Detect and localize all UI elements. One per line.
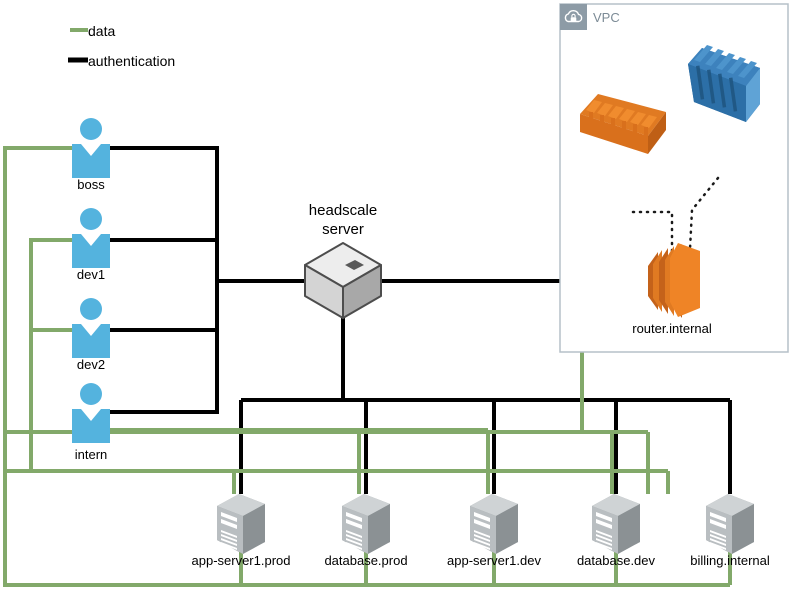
data-edge-dev2	[31, 330, 72, 471]
vpc-label: VPC	[593, 10, 620, 25]
server-icon	[706, 494, 754, 554]
headscale-server-node: headscale server	[305, 202, 381, 318]
user-intern: intern	[72, 383, 110, 462]
server-icon	[217, 494, 265, 554]
server-app-server1-prod: app-server1.prod	[192, 494, 291, 568]
headscale-label-line2: server	[322, 221, 364, 238]
server-icon	[470, 494, 518, 554]
server-label: database.prod	[324, 553, 407, 568]
user-icon	[72, 118, 110, 178]
user-dev2: dev2	[72, 298, 110, 372]
legend-label-data: data	[88, 23, 115, 39]
server-icon	[592, 494, 640, 554]
headscale-cube-icon	[305, 243, 381, 318]
server-label: billing.internal	[690, 553, 770, 568]
user-icon	[72, 208, 110, 268]
user-label: intern	[75, 447, 108, 462]
server-billing-internal: billing.internal	[690, 494, 770, 568]
user-label: boss	[77, 177, 105, 192]
headscale-label-line1: headscale	[309, 202, 377, 219]
user-boss: boss	[72, 118, 110, 192]
server-label: database.dev	[577, 553, 656, 568]
server-label: app-server1.prod	[192, 553, 291, 568]
user-dev1: dev1	[72, 208, 110, 282]
server-app-server1-dev: app-server1.dev	[447, 494, 541, 568]
diagram-canvas: data authentication	[0, 0, 792, 593]
router-label: router.internal	[632, 321, 712, 336]
user-label: dev1	[77, 267, 105, 282]
user-icon	[72, 298, 110, 358]
legend-label-authentication: authentication	[88, 53, 175, 69]
legend: data authentication	[68, 23, 175, 69]
user-label: dev2	[77, 357, 105, 372]
server-database-dev: database.dev	[577, 494, 656, 568]
server-icon	[342, 494, 390, 554]
server-label: app-server1.dev	[447, 553, 541, 568]
network-diagram: data authentication	[0, 0, 792, 593]
vpc-icon-background	[560, 4, 587, 30]
server-database-prod: database.prod	[324, 494, 407, 568]
user-icon	[72, 383, 110, 443]
